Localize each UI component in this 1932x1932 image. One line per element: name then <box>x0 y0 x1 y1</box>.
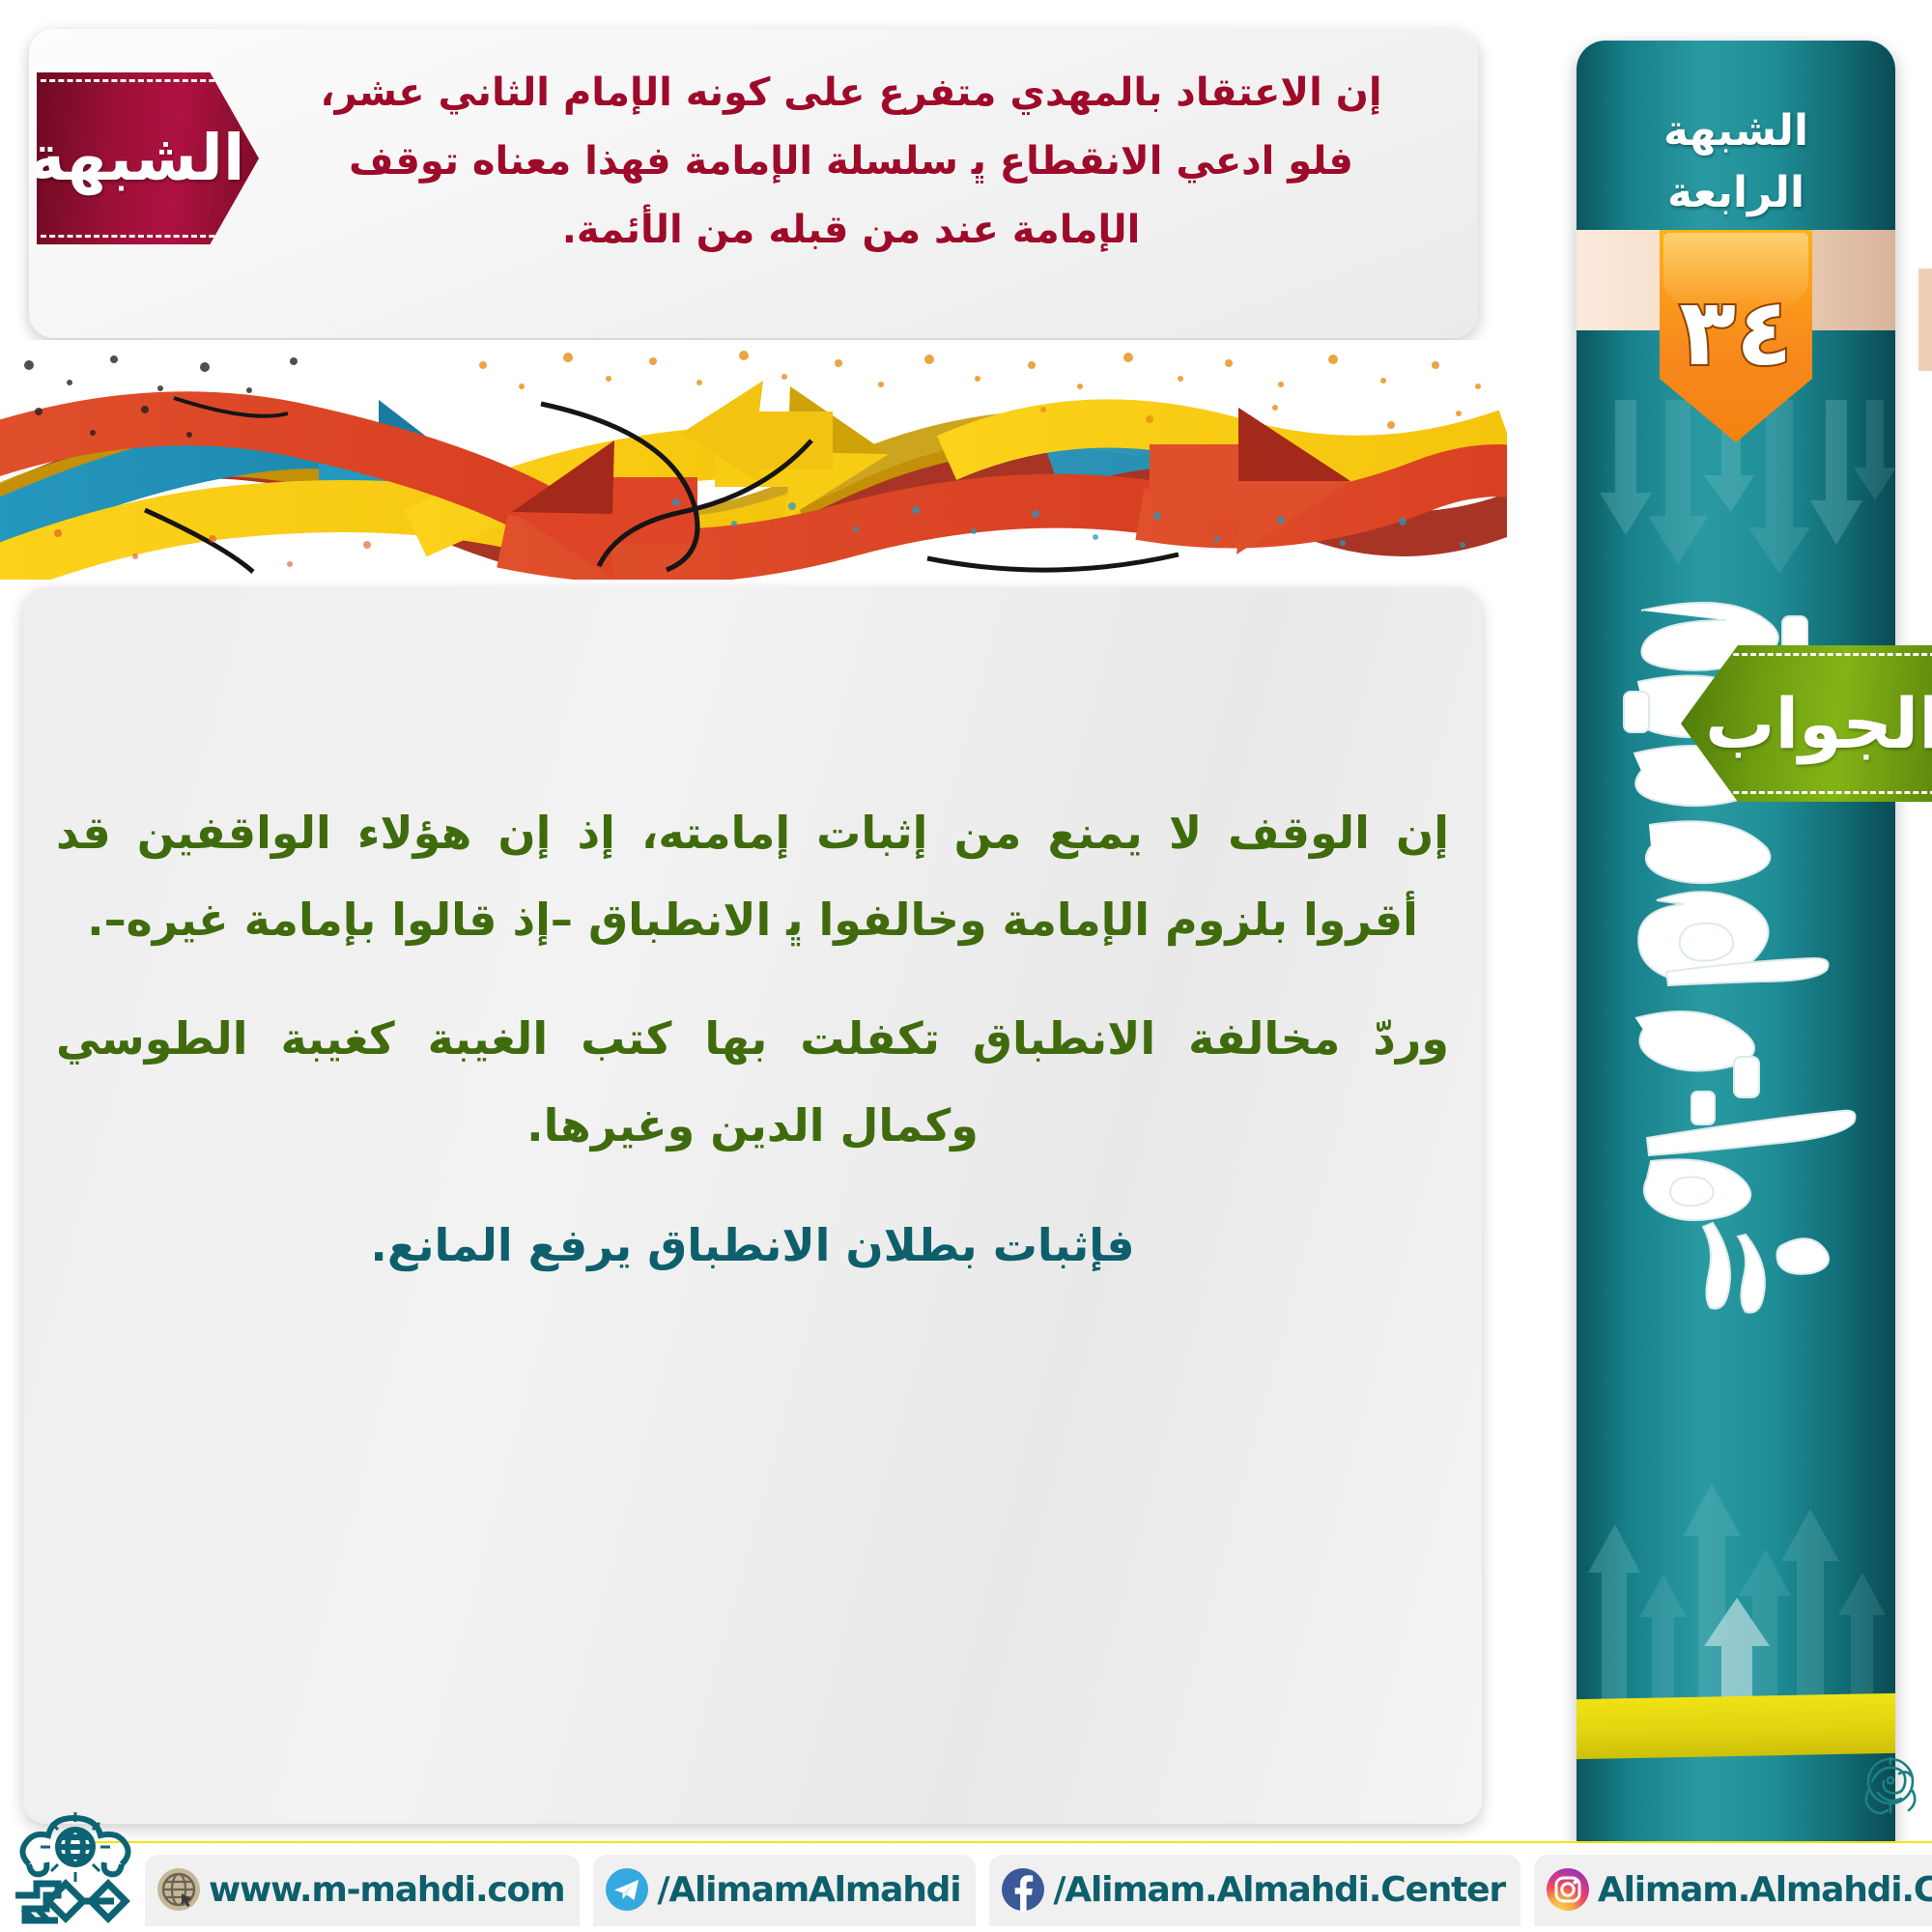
globe-icon <box>156 1867 201 1912</box>
shubha-tag-label: الشبهة <box>27 127 244 190</box>
telegram-link[interactable]: /AlimamAlmahdi <box>593 1855 976 1926</box>
arrows-up-svg <box>1577 1453 1895 1723</box>
beige-band <box>1577 230 1895 330</box>
social-links-row: www.m-mahdi.com /AlimamAlmahdi /Alimam.A… <box>145 1855 1932 1926</box>
arrows-down-texture <box>1577 400 1895 574</box>
arrow-decoration-band <box>0 340 1507 580</box>
logo-svg <box>8 1808 143 1928</box>
seal-svg <box>1855 1748 1926 1824</box>
instagram-link[interactable]: Alimam.Almahdi.Center <box>1534 1855 1932 1926</box>
jawab-tag-label: الجواب <box>1705 689 1932 758</box>
jawab-text-block: إن الوقف لا يمنع من إثبات إمامته، إذ إن … <box>56 790 1449 1321</box>
facebook-link[interactable]: /Alimam.Almahdi.Center <box>989 1855 1520 1926</box>
jawab-paragraph-1: إن الوقف لا يمنع من إثبات إمامته، إذ إن … <box>56 790 1449 963</box>
shubha-line-3: الإمامة عند من قبله من الأئمة. <box>257 199 1445 262</box>
jawab-card: إن الوقف لا يمنع من إثبات إمامته، إذ إن … <box>23 587 1482 1824</box>
organization-logo <box>8 1808 143 1928</box>
arrows-illustration-svg <box>0 340 1507 580</box>
shubha-line-1: إن الاعتقاد بالمهدي متفرع على كونه الإما… <box>257 62 1445 125</box>
arrows-up-texture <box>1577 1453 1895 1723</box>
facebook-label: /Alimam.Almahdi.Center <box>1053 1870 1505 1910</box>
shubha-card: إن الاعتقاد بالمهدي متفرع على كونه الإما… <box>29 29 1478 338</box>
arrows-down-svg <box>1577 400 1895 574</box>
shubha-line-2: فلو ادعي الانقطاع ﭜ سلسلة الإمامة فهذا م… <box>257 130 1445 193</box>
calligraphic-seal <box>1855 1748 1926 1824</box>
website-label: www.m-mahdi.com <box>209 1870 564 1910</box>
infographic-poster: إن الاعتقاد بالمهدي متفرع على كونه الإما… <box>0 0 1932 1932</box>
jawab-paragraph-2: وردّ مخالفة الانطباق تكفلت بها كتب الغيب… <box>56 996 1449 1169</box>
website-link[interactable]: www.m-mahdi.com <box>145 1855 580 1926</box>
facebook-icon <box>1001 1867 1045 1912</box>
telegram-icon <box>605 1867 649 1912</box>
sidebar-title-line-1: الشبهة <box>1577 100 1895 162</box>
sidebar-yellow-stripe <box>1577 1693 1895 1760</box>
sidebar-column: الشبهة الرابعة والثلاثون <box>1577 41 1895 1857</box>
shubha-text-block: إن الاعتقاد بالمهدي متفرع على كونه الإما… <box>257 62 1445 267</box>
instagram-label: Alimam.Almahdi.Center <box>1598 1870 1932 1910</box>
instagram-icon <box>1546 1867 1590 1912</box>
jawab-paragraph-3: فإثبات بطلان الانطباق يرفع المانع. <box>56 1203 1449 1290</box>
beige-side-tab <box>1918 269 1932 371</box>
telegram-label: /AlimamAlmahdi <box>657 1870 960 1910</box>
